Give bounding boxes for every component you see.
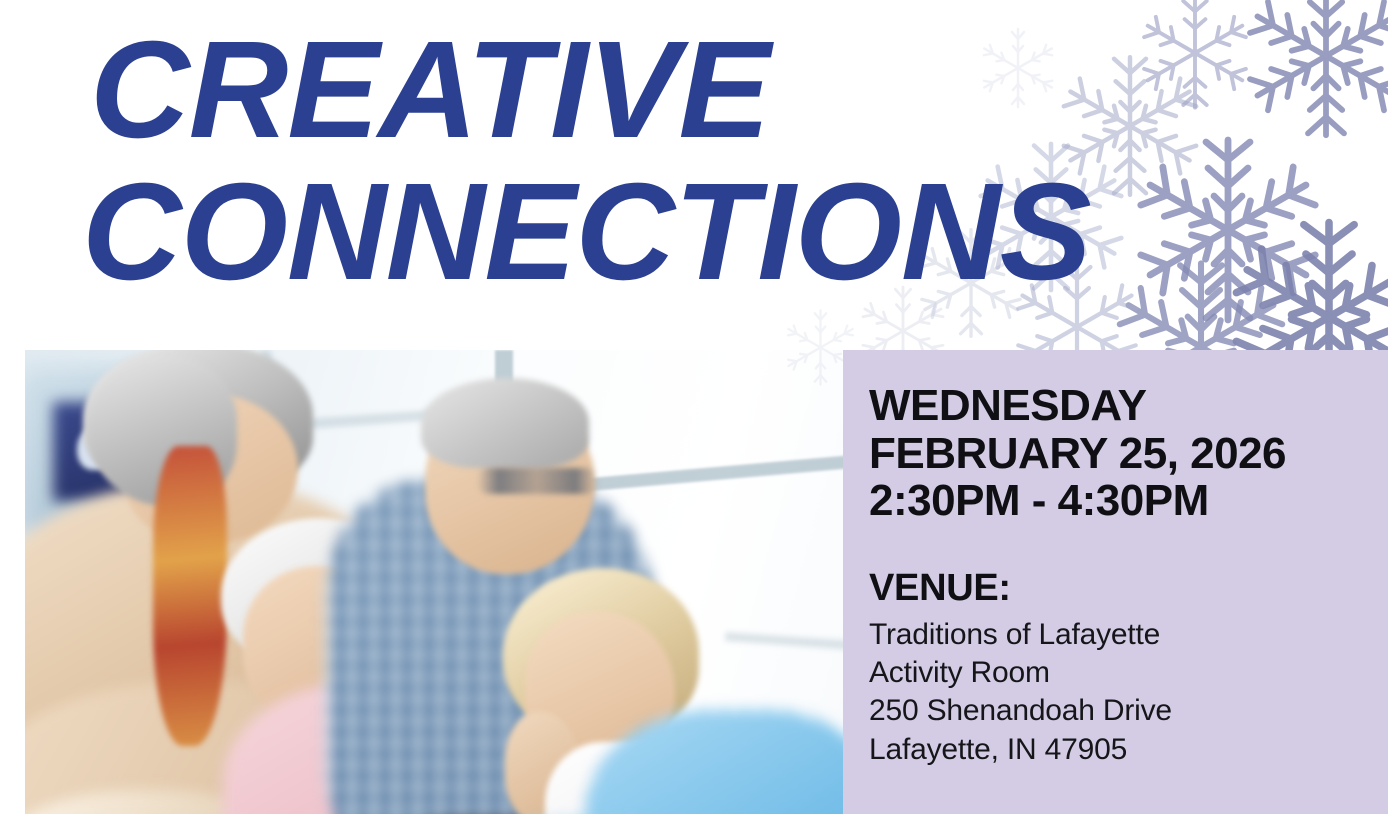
venue-line: 250 Shenandoah Drive xyxy=(869,692,1388,730)
person-a-scarf xyxy=(153,446,227,746)
page-title: CREATIVE CONNECTIONS xyxy=(82,26,1142,297)
venue-line: Traditions of Lafayette xyxy=(869,616,1388,654)
flyer-poster: CREATIVE CONNECTIONS WEDNESDAY FEBRUARY … xyxy=(0,0,1388,814)
photo-canvas xyxy=(25,350,943,814)
event-time: 2:30PM - 4:30PM xyxy=(869,477,1388,525)
event-date: FEBRUARY 25, 2026 xyxy=(869,430,1388,478)
venue-address: Traditions of Lafayette Activity Room 25… xyxy=(869,616,1388,770)
venue-line: Lafayette, IN 47905 xyxy=(869,731,1388,769)
venue-line: Activity Room xyxy=(869,654,1388,692)
person-c-hair xyxy=(421,378,589,468)
event-info-panel: WEDNESDAY FEBRUARY 25, 2026 2:30PM - 4:3… xyxy=(843,350,1388,814)
snowflake-icon xyxy=(1236,0,1388,146)
seniors-photo xyxy=(25,350,943,814)
title-line-connections: CONNECTIONS xyxy=(82,168,1142,298)
eyeglasses-icon xyxy=(477,468,597,494)
snowflake-icon xyxy=(1130,0,1260,118)
title-line-creative: CREATIVE xyxy=(90,26,1142,156)
event-day: WEDNESDAY xyxy=(869,382,1388,430)
venue-label: VENUE: xyxy=(869,567,1388,610)
snowflake-icon xyxy=(1128,130,1328,330)
